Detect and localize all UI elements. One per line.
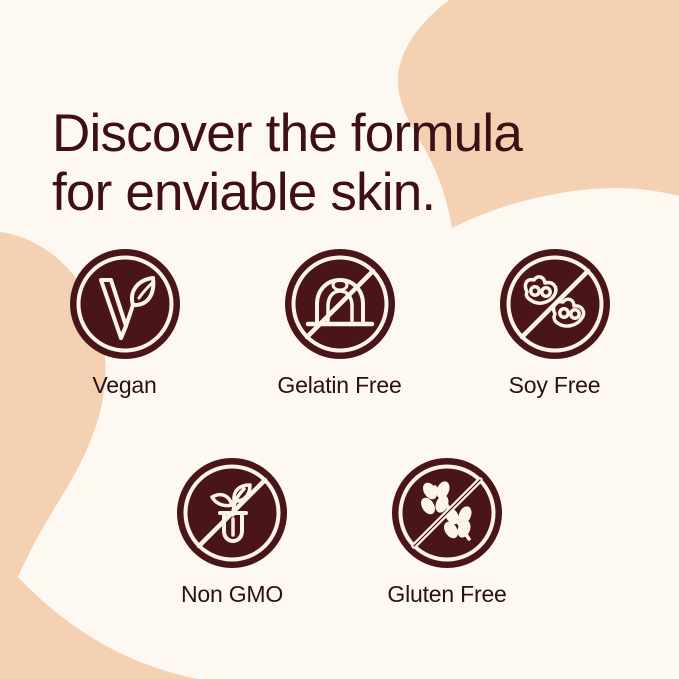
promo-banner: Discover the formula for enviable skin. … [0,0,679,679]
vegan-leaf-icon [69,248,181,360]
badge-label: Non GMO [181,583,283,606]
badge-label: Gelatin Free [277,374,401,397]
jelly-mold-icon [284,248,396,360]
page-title: Discover the formula for enviable skin. [52,104,632,224]
badge-row-bottom: Non GMO [0,457,679,606]
badge-gluten-free[interactable]: Gluten Free [388,457,506,606]
soybean-pod-icon [499,248,611,360]
badge-label: Gluten Free [387,583,506,606]
test-tube-sprout-icon [176,457,288,569]
wheat-stalk-icon [391,457,503,569]
badge-label: Vegan [92,374,156,397]
badge-soy-free[interactable]: Soy Free [496,248,614,397]
badge-non-gmo[interactable]: Non GMO [173,457,291,606]
badge-row-top: Vegan Gelatin Free [0,248,679,397]
badge-vegan[interactable]: Vegan [66,248,184,397]
badge-grid: Vegan Gelatin Free [0,248,679,606]
badge-gelatin-free[interactable]: Gelatin Free [281,248,399,397]
badge-label: Soy Free [509,374,601,397]
